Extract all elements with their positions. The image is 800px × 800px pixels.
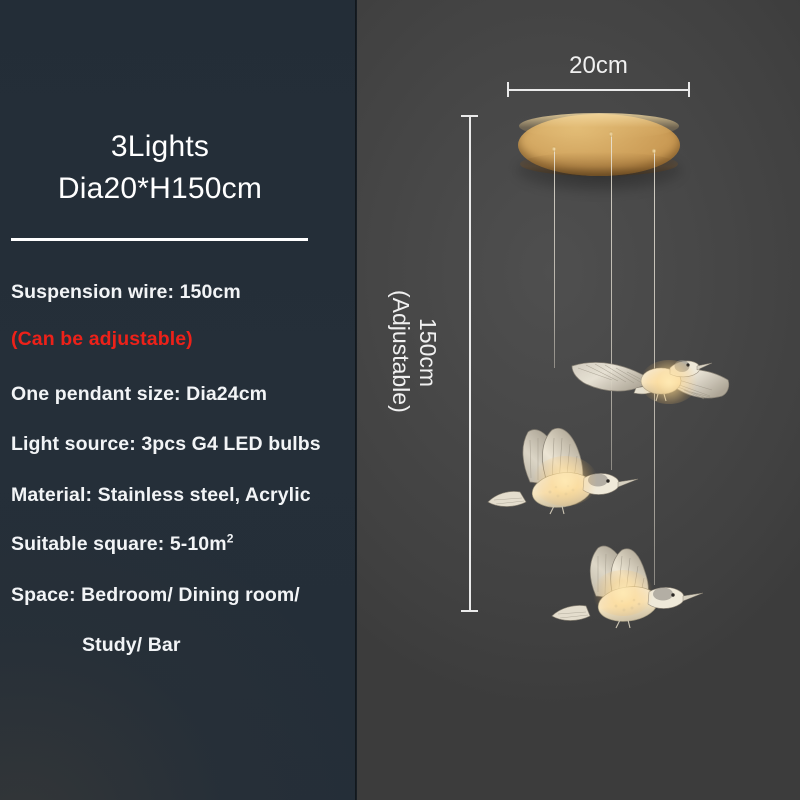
wire-anchor-3 [652, 148, 656, 154]
wire-anchor-2 [609, 131, 613, 137]
bird-pendant-bottom [536, 528, 716, 638]
specification-panel: 3Lights Dia20*H150cm Suspension wire: 15… [0, 0, 357, 800]
suspension-wire-1 [554, 148, 555, 368]
width-dimension-tick-right [688, 82, 690, 97]
height-dimension-line [469, 115, 471, 612]
spec-space: Space: Bedroom/ Dining room/ [11, 584, 300, 607]
height-dimension-tick-bottom [461, 610, 478, 612]
height-dimension-tick-top [461, 115, 478, 117]
width-dimension-line [507, 89, 690, 91]
bird-pendant-middle [478, 408, 658, 528]
canopy-top-rim [519, 113, 679, 139]
product-spec-image: 3Lights Dia20*H150cm Suspension wire: 15… [0, 0, 800, 800]
height-adjustable-note: (Adjustable) [387, 290, 414, 413]
spec-material: Material: Stainless steel, Acrylic [11, 484, 311, 507]
title-divider [11, 238, 308, 241]
product-photo-scene: 20cm 150cm (Adjustable) [357, 0, 800, 800]
spec-suitable-square: Suitable square: 5-10m2 [11, 533, 234, 556]
height-dimension-label: 150cm [414, 318, 441, 387]
spec-suitable-square-text: Suitable square: 5-10m [11, 533, 227, 555]
spec-light-source: Light source: 3pcs G4 LED bulbs [11, 433, 321, 456]
spec-adjustable-note: (Can be adjustable) [11, 328, 193, 351]
product-title-line-2: Dia20*H150cm [0, 172, 320, 206]
width-dimension-label: 20cm [507, 52, 690, 80]
product-title-line-1: 3Lights [0, 130, 320, 164]
wire-anchor-1 [552, 146, 556, 152]
spec-pendant-size: One pendant size: Dia24cm [11, 383, 267, 406]
spec-suitable-square-superscript: 2 [227, 532, 234, 546]
spec-suspension-wire: Suspension wire: 150cm [11, 281, 241, 304]
spec-space-continued: Study/ Bar [82, 634, 181, 657]
width-dimension-tick-left [507, 82, 509, 97]
